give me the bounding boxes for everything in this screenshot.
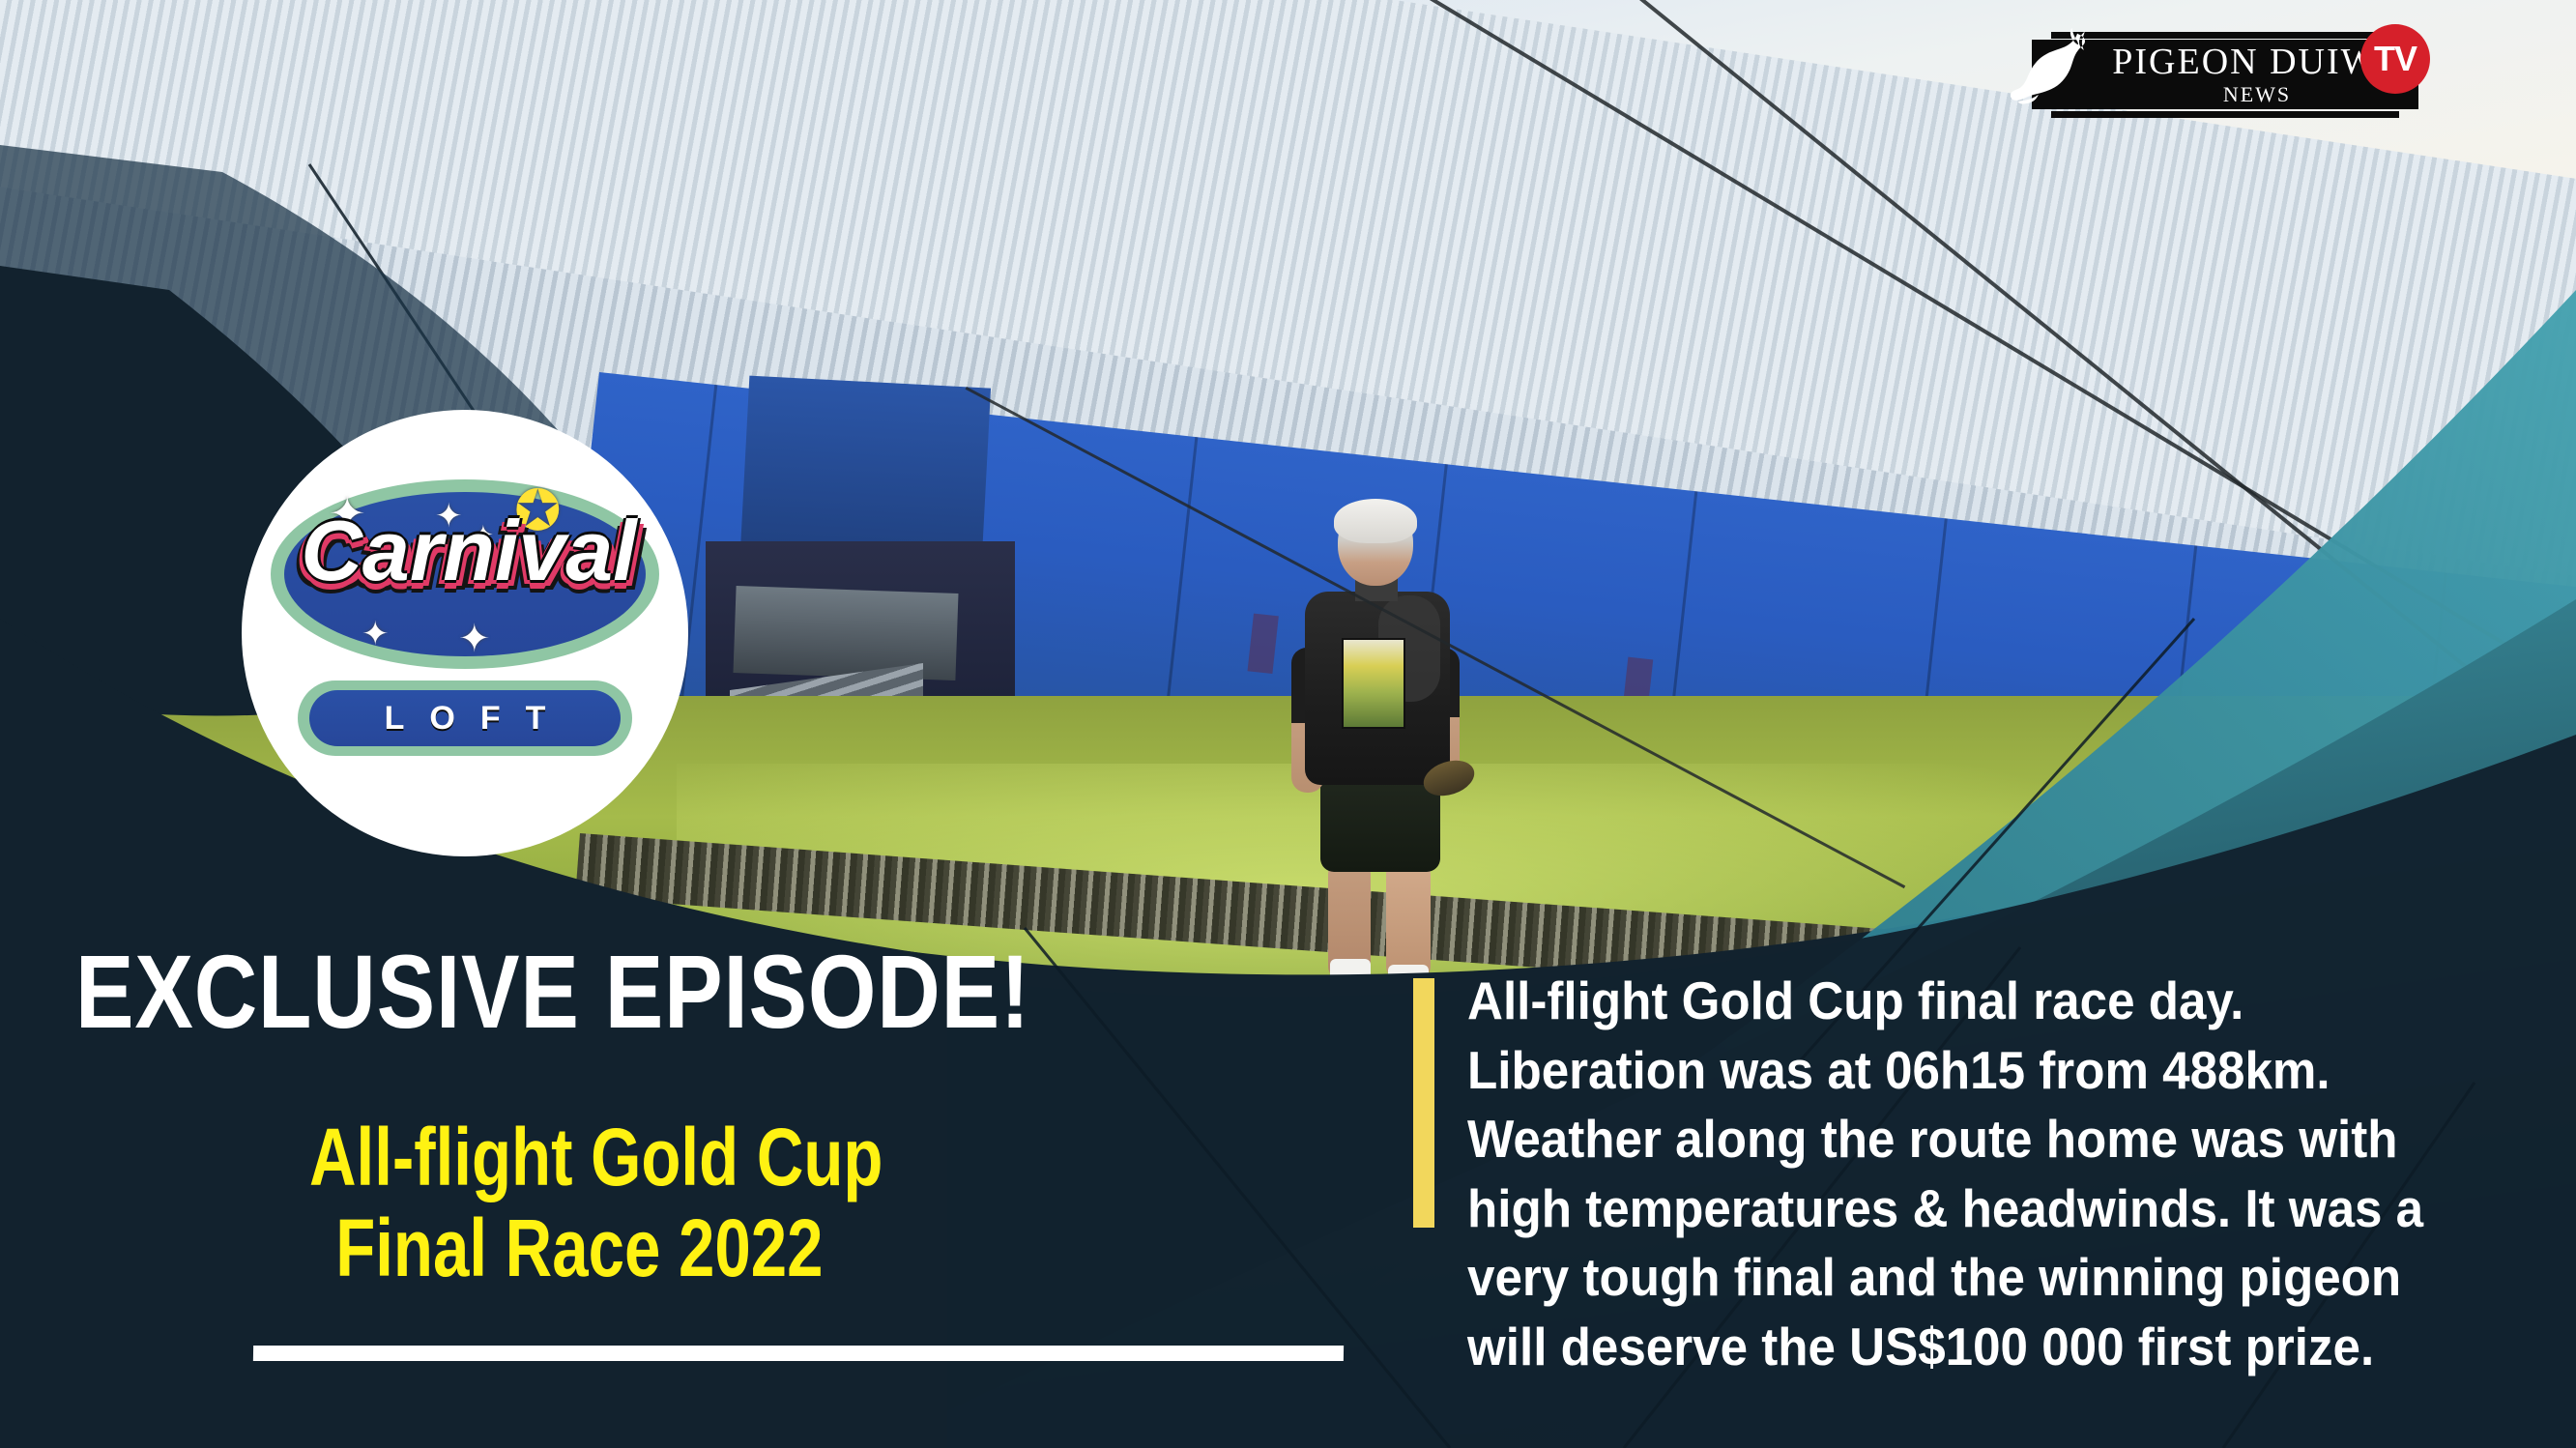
description-accent-bar xyxy=(1413,978,1434,1228)
tv-badge[interactable]: TV xyxy=(2360,24,2430,94)
person-walking xyxy=(1286,503,1469,909)
carnival-loft-logo: ✦ ✦ ✪ ✦ ✦ ✦ Carnival LOFT xyxy=(265,474,665,793)
episode-subtitle-line2: Final Race 2022 xyxy=(335,1202,883,1293)
star-icon-6: ✦ xyxy=(458,617,491,661)
loft-plate-label: LOFT xyxy=(309,690,621,746)
tshirt-graphic xyxy=(1342,638,1405,729)
logo-rule-top xyxy=(2051,32,2399,39)
pigeon-duiwe-news-logo[interactable]: PIGEON DUIWE NEWS TV xyxy=(2011,24,2426,121)
dove-icon xyxy=(2011,26,2103,115)
episode-subtitle-line1: All-flight Gold Cup xyxy=(309,1112,883,1202)
episode-subtitle: All-flight Gold Cup Final Race 2022 xyxy=(309,1112,883,1293)
shed-roof xyxy=(733,586,958,681)
poster-canvas: ✦ ✦ ✪ ✦ ✦ ✦ Carnival LOFT PIGEON DUIWE N… xyxy=(0,0,2576,1448)
star-icon-5: ✦ xyxy=(362,615,390,653)
logo-rule-bottom xyxy=(2051,111,2399,118)
carnival-wordmark: Carnival xyxy=(278,508,659,594)
tv-badge-label: TV xyxy=(2374,42,2417,76)
page-title: EXCLUSIVE EPISODE! xyxy=(75,940,1030,1044)
logo-subtitle: NEWS xyxy=(2098,84,2417,105)
description-text: All-flight Gold Cup final race day. Libe… xyxy=(1467,967,2447,1381)
title-underline xyxy=(253,1346,1344,1361)
